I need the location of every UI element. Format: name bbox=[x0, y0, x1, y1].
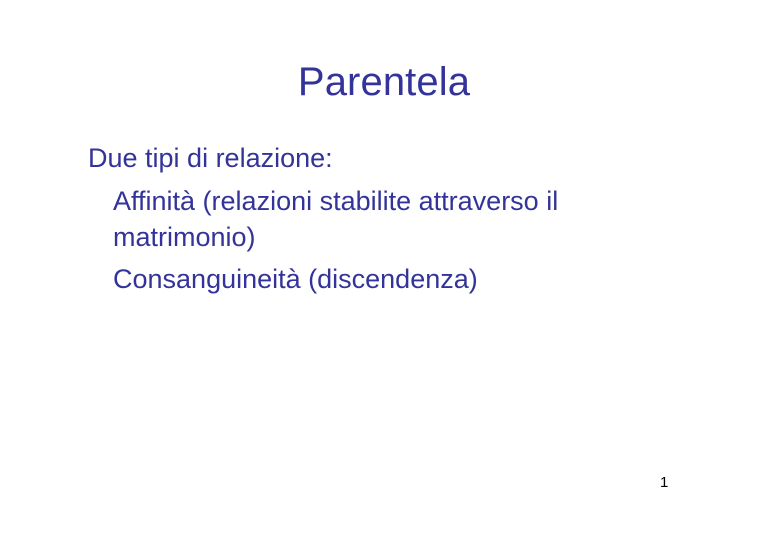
slide-title: Parentela bbox=[0, 58, 768, 106]
presentation-slide: Parentela Due tipi di relazione: Affinit… bbox=[0, 0, 768, 543]
bullet-item-level-2-affinita: Affinità (relazioni stabilite attraverso… bbox=[113, 183, 613, 255]
bullet-item-level-1: Due tipi di relazione: bbox=[88, 140, 688, 176]
slide-body-content: Due tipi di relazione: Affinità (relazio… bbox=[88, 140, 688, 297]
bullet-item-level-2-consanguineita: Consanguineità (discendenza) bbox=[113, 261, 613, 297]
page-number: 1 bbox=[660, 474, 684, 492]
